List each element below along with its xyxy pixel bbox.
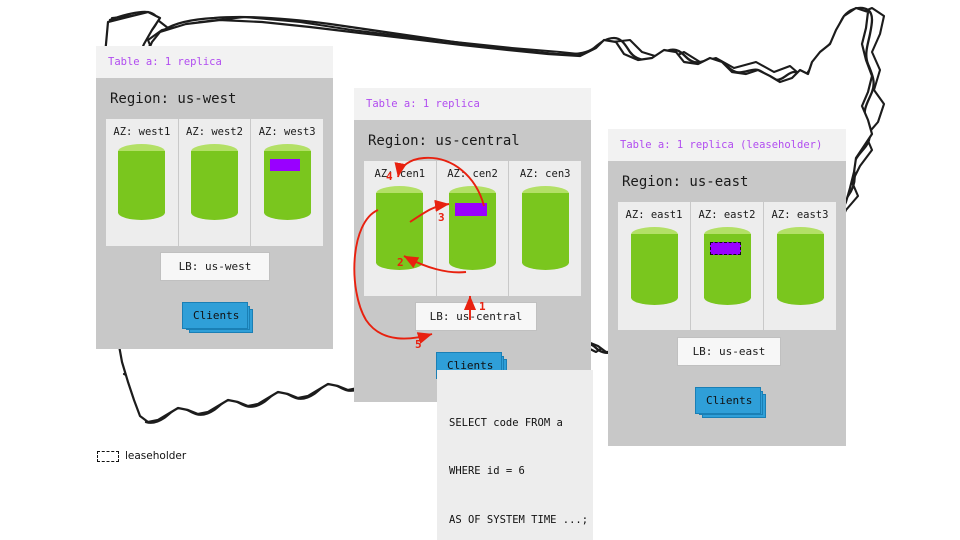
table-banner-us-central: Table a: 1 replica: [354, 88, 591, 120]
az-cell-cen2[interactable]: AZ: cen2: [436, 161, 509, 296]
table-banner-us-east: Table a: 1 replica (leaseholder): [608, 129, 846, 161]
az-label-cen2: AZ: cen2: [437, 168, 509, 180]
cylinder-body: [191, 151, 238, 213]
clients-label-us-west[interactable]: Clients: [182, 302, 248, 329]
az-cell-east2[interactable]: AZ: east2: [690, 202, 763, 330]
region-title-us-west: Region: us-west: [96, 78, 333, 119]
az-label-cen3: AZ: cen3: [509, 168, 581, 180]
region-panel-us-west: Table a: 1 replica Region: us-west AZ: w…: [96, 46, 333, 349]
cylinder-body: [376, 193, 423, 263]
leaseholder-swatch-icon: [97, 451, 119, 462]
cylinder-bottom: [777, 290, 824, 305]
az-cell-east1[interactable]: AZ: east1: [618, 202, 690, 330]
cylinder-bottom: [704, 290, 751, 305]
node-cylinder-east2[interactable]: [704, 227, 751, 305]
az-cell-west3[interactable]: AZ: west3: [250, 119, 323, 246]
az-cell-west1[interactable]: AZ: west1: [106, 119, 178, 246]
sql-query-box: SELECT code FROM a WHERE id = 6 AS OF SY…: [437, 370, 593, 540]
node-cylinder-west2[interactable]: [191, 144, 238, 220]
region-body-us-east: Region: us-east AZ: east1 AZ: east2: [608, 161, 846, 446]
clients-us-west[interactable]: Clients: [182, 302, 248, 329]
az-label-east3: AZ: east3: [764, 209, 836, 221]
az-cell-cen3[interactable]: AZ: cen3: [508, 161, 581, 296]
clients-us-east[interactable]: Clients: [695, 387, 761, 414]
sql-line-1: SELECT code FROM a: [449, 415, 579, 431]
node-cylinder-cen1[interactable]: [376, 186, 423, 270]
cylinder-bottom: [631, 290, 678, 305]
cylinder-body: [777, 234, 824, 298]
cylinder-bottom: [449, 255, 496, 270]
node-cylinder-east1[interactable]: [631, 227, 678, 305]
az-row-us-west: AZ: west1 AZ: west2: [106, 119, 323, 246]
clients-label-us-east[interactable]: Clients: [695, 387, 761, 414]
cylinder-bottom: [118, 205, 165, 220]
cylinder-body: [522, 193, 569, 263]
az-cell-west2[interactable]: AZ: west2: [178, 119, 251, 246]
region-body-us-west: Region: us-west AZ: west1 AZ: west2: [96, 78, 333, 349]
az-label-east2: AZ: east2: [691, 209, 763, 221]
replica-marker-cen2[interactable]: [455, 203, 487, 216]
sql-line-3: AS OF SYSTEM TIME ...;: [449, 512, 579, 528]
az-row-us-east: AZ: east1 AZ: east2: [618, 202, 836, 330]
node-cylinder-west1[interactable]: [118, 144, 165, 220]
region-panel-us-east: Table a: 1 replica (leaseholder) Region:…: [608, 129, 846, 446]
region-title-us-central: Region: us-central: [354, 120, 591, 161]
cylinder-bottom: [522, 255, 569, 270]
load-balancer-us-central[interactable]: LB: us-central: [415, 302, 537, 331]
region-panel-us-central: Table a: 1 replica Region: us-central AZ…: [354, 88, 591, 402]
az-row-us-central: AZ: cen1 AZ: cen2: [364, 161, 581, 296]
node-cylinder-east3[interactable]: [777, 227, 824, 305]
region-body-us-central: Region: us-central AZ: cen1 AZ: cen2: [354, 120, 591, 402]
az-label-west1: AZ: west1: [106, 126, 178, 138]
cylinder-bottom: [264, 205, 311, 220]
diagram-canvas: Table a: 1 replica Region: us-west AZ: w…: [0, 0, 960, 540]
legend-label: leaseholder: [125, 450, 186, 462]
replica-marker-west3[interactable]: [270, 159, 300, 171]
cylinder-body: [631, 234, 678, 298]
load-balancer-us-east[interactable]: LB: us-east: [677, 337, 781, 366]
az-label-east1: AZ: east1: [618, 209, 690, 221]
cylinder-bottom: [191, 205, 238, 220]
node-cylinder-west3[interactable]: [264, 144, 311, 220]
az-label-west2: AZ: west2: [179, 126, 251, 138]
az-cell-east3[interactable]: AZ: east3: [763, 202, 836, 330]
az-cell-cen1[interactable]: AZ: cen1: [364, 161, 436, 296]
az-label-west3: AZ: west3: [251, 126, 323, 138]
cylinder-bottom: [376, 255, 423, 270]
az-label-cen1: AZ: cen1: [364, 168, 436, 180]
cylinder-body: [118, 151, 165, 213]
load-balancer-us-west[interactable]: LB: us-west: [160, 252, 270, 281]
node-cylinder-cen2[interactable]: [449, 186, 496, 270]
region-title-us-east: Region: us-east: [608, 161, 846, 202]
node-cylinder-cen3[interactable]: [522, 186, 569, 270]
sql-line-2: WHERE id = 6: [449, 463, 579, 479]
legend-leaseholder: leaseholder: [97, 450, 186, 462]
table-banner-us-west: Table a: 1 replica: [96, 46, 333, 78]
replica-marker-east2-leaseholder[interactable]: [710, 242, 741, 255]
